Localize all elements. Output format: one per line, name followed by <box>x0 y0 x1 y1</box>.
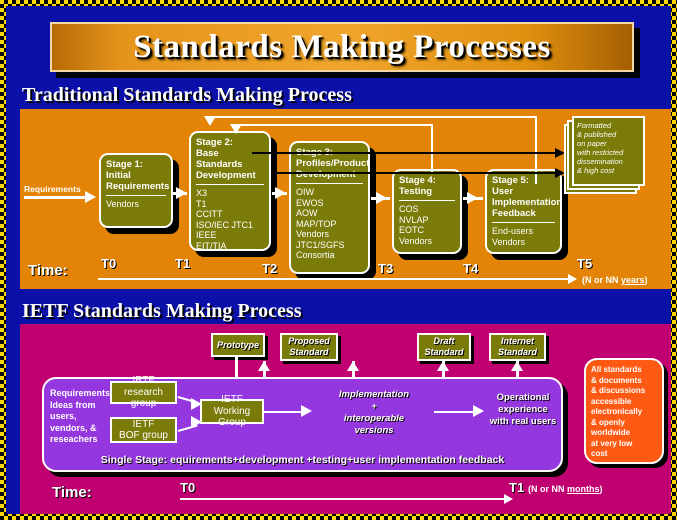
single-stage-caption: Single Stage: equirements+development +t… <box>44 454 561 466</box>
traditional-tick-t2: T2 <box>262 261 277 276</box>
ietf-time-axis <box>180 498 507 500</box>
stage-3-item: Vendors <box>296 229 363 240</box>
stage-4-header: Stage 4: Testing <box>399 175 455 197</box>
traditional-axis-note-prefix: (N or NN <box>582 275 621 285</box>
stage-2-divider <box>196 184 264 185</box>
ietf-axis-note-prefix: (N or NN <box>528 484 567 494</box>
proposed-standard-arrow-icon <box>258 361 270 371</box>
traditional-time-axis-arrow-icon <box>568 274 577 284</box>
stage-3-item: OIW <box>296 187 363 198</box>
stage-box-1[interactable]: Stage 1: Initial Requirements Vendors <box>99 153 173 228</box>
traditional-tick-t4: T4 <box>463 261 478 276</box>
stage-box-4[interactable]: Stage 4: Testing COS NVLAP EOTC Vendors <box>392 169 462 254</box>
stage-1-divider <box>106 195 166 196</box>
ietf-section-heading: IETF Standards Making Process <box>22 300 301 323</box>
ietf-bof-group-box[interactable]: IETF BOF group <box>110 417 177 443</box>
stage-5-header: Stage 5: User Implementation Feedback <box>492 175 555 219</box>
milestone-prototype[interactable]: Prototype <box>211 333 265 357</box>
ietf-tick-t0: T0 <box>180 480 195 495</box>
page-title: Standards Making Processes <box>133 29 551 66</box>
stage-3-item: EWOS <box>296 198 363 209</box>
publish-line-lower <box>272 172 557 174</box>
traditional-tick-t0: T0 <box>101 256 116 271</box>
stage-2-item: T1 <box>196 199 264 210</box>
stage-2-item: IEEE <box>196 230 264 241</box>
stage-4-item: EOTC <box>399 225 455 236</box>
feedback-line-inner-top <box>236 124 432 126</box>
stage-4-item: NVLAP <box>399 215 455 226</box>
stage-1-item: Vendors <box>106 199 166 210</box>
feedback-arrow-inner-icon <box>230 124 242 134</box>
implementation-label: Implementation + interoperable versions <box>314 389 434 437</box>
traditional-section-heading: Traditional Standards Making Process <box>22 84 352 107</box>
published-output-note: Formatted & published on paper with rest… <box>572 116 645 186</box>
ietf-time-axis-arrow-icon <box>504 494 513 504</box>
ietf-tick-t1: T1 <box>509 480 524 495</box>
stage-3-item: Consortia <box>296 250 363 261</box>
slide-canvas: Standards Making Processes Traditional S… <box>6 6 671 514</box>
stage-1-header: Stage 1: Initial Requirements <box>106 159 166 192</box>
stage-3-item: MAP/TOP <box>296 219 363 230</box>
milestone-draft-standard[interactable]: Draft Standard <box>417 333 471 361</box>
milestone-proposed-standard-label: Proposed Standard <box>288 336 330 358</box>
implementation-to-operational-arrow-icon <box>473 405 484 417</box>
ietf-working-group-box[interactable]: IETF Working Group <box>200 399 264 424</box>
requirements-input-label: Requirements <box>24 184 81 194</box>
wg-to-implementation-arrow-icon <box>301 405 312 417</box>
draft-standard-arrow-icon <box>347 361 359 371</box>
feedback-line-outer-top <box>211 116 536 118</box>
stage-3-divider <box>296 183 363 184</box>
stage-4-item: COS <box>399 204 455 215</box>
stage-5-item: End-users <box>492 226 555 237</box>
milestone-internet-standard-label: Internet Standard <box>498 336 537 358</box>
stage-4-divider <box>399 200 455 201</box>
stage-2-item: CCITT <box>196 209 264 220</box>
milestone-proposed-standard[interactable]: Proposed Standard <box>280 333 338 361</box>
internet-standard-arrow-icon <box>437 361 449 371</box>
ietf-axis-note-unit: months <box>567 484 600 494</box>
ietf-time-label: Time: <box>52 484 92 501</box>
internet-standard-right-arrow-icon <box>511 361 523 371</box>
irtf-to-wg-arrow-icon <box>191 398 202 410</box>
milestone-prototype-label: Prototype <box>217 340 259 351</box>
published-output-note-text: Formatted & published on paper with rest… <box>577 121 623 175</box>
stage-2-item: EIT/TIA <box>196 241 264 252</box>
stage-4-item: Vendors <box>399 236 455 247</box>
stage-box-3[interactable]: Stage 3: Profiles/Product Development OI… <box>289 141 370 274</box>
irtf-research-group-label: IRTF research group <box>112 375 175 410</box>
stage4-to-stage5-arrow-icon <box>467 192 478 204</box>
traditional-time-label: Time: <box>28 262 68 279</box>
stage-2-item: ISO/IEC JTC1 <box>196 220 264 231</box>
stage2-to-stage3-arrow-icon <box>275 187 286 199</box>
stage-5-divider <box>492 222 555 223</box>
milestone-draft-standard-label: Draft Standard <box>424 336 463 358</box>
stage-box-5[interactable]: Stage 5: User Implementation Feedback En… <box>485 169 562 254</box>
requirements-arrow-icon <box>85 191 96 203</box>
traditional-tick-t3: T3 <box>378 261 393 276</box>
requirements-connector-line <box>24 196 86 199</box>
slide-root: Standards Making Processes Traditional S… <box>0 0 677 520</box>
electronic-availability-note: All standards & documents & discussions … <box>584 358 664 464</box>
stage-box-2[interactable]: Stage 2: Base Standards Development X3 T… <box>189 131 271 251</box>
ietf-inputs-label: Requirements/ Ideas from users, vendors,… <box>50 388 116 446</box>
title-banner: Standards Making Processes <box>50 22 634 72</box>
operational-experience-label: Operational experience with real users <box>484 392 562 428</box>
traditional-axis-note: (N or NN years) <box>582 275 648 285</box>
stage-3-item: AOW <box>296 208 363 219</box>
traditional-axis-note-unit: years <box>621 275 645 285</box>
milestone-internet-standard[interactable]: Internet Standard <box>489 333 546 361</box>
irtf-research-group-box[interactable]: IRTF research group <box>110 381 177 404</box>
traditional-tick-t5: T5 <box>577 256 592 271</box>
traditional-tick-t1: T1 <box>175 256 190 271</box>
ietf-axis-note: (N or NN months) <box>528 484 603 494</box>
ietf-axis-note-suffix: ) <box>600 484 603 494</box>
traditional-time-axis <box>98 278 570 280</box>
stage3-to-stage4-arrow-icon <box>376 192 387 204</box>
stage-3-item: JTC1/SGFS <box>296 240 363 251</box>
feedback-line-inner-down <box>431 124 433 174</box>
feedback-arrow-outer-icon <box>204 116 216 126</box>
stage-2-header: Stage 2: Base Standards Development <box>196 137 264 181</box>
traditional-axis-note-suffix: ) <box>645 275 648 285</box>
stage-5-item: Vendors <box>492 237 555 248</box>
stage1-to-stage2-arrow-icon <box>176 187 187 199</box>
bof-to-wg-arrow-icon <box>191 416 202 428</box>
ietf-bof-group-label: IETF BOF group <box>119 419 168 442</box>
publish-line-upper <box>252 152 557 154</box>
stage-2-item: X3 <box>196 188 264 199</box>
ietf-working-group-label: IETF Working Group <box>202 394 262 429</box>
electronic-availability-note-text: All standards & documents & discussions … <box>591 365 645 458</box>
